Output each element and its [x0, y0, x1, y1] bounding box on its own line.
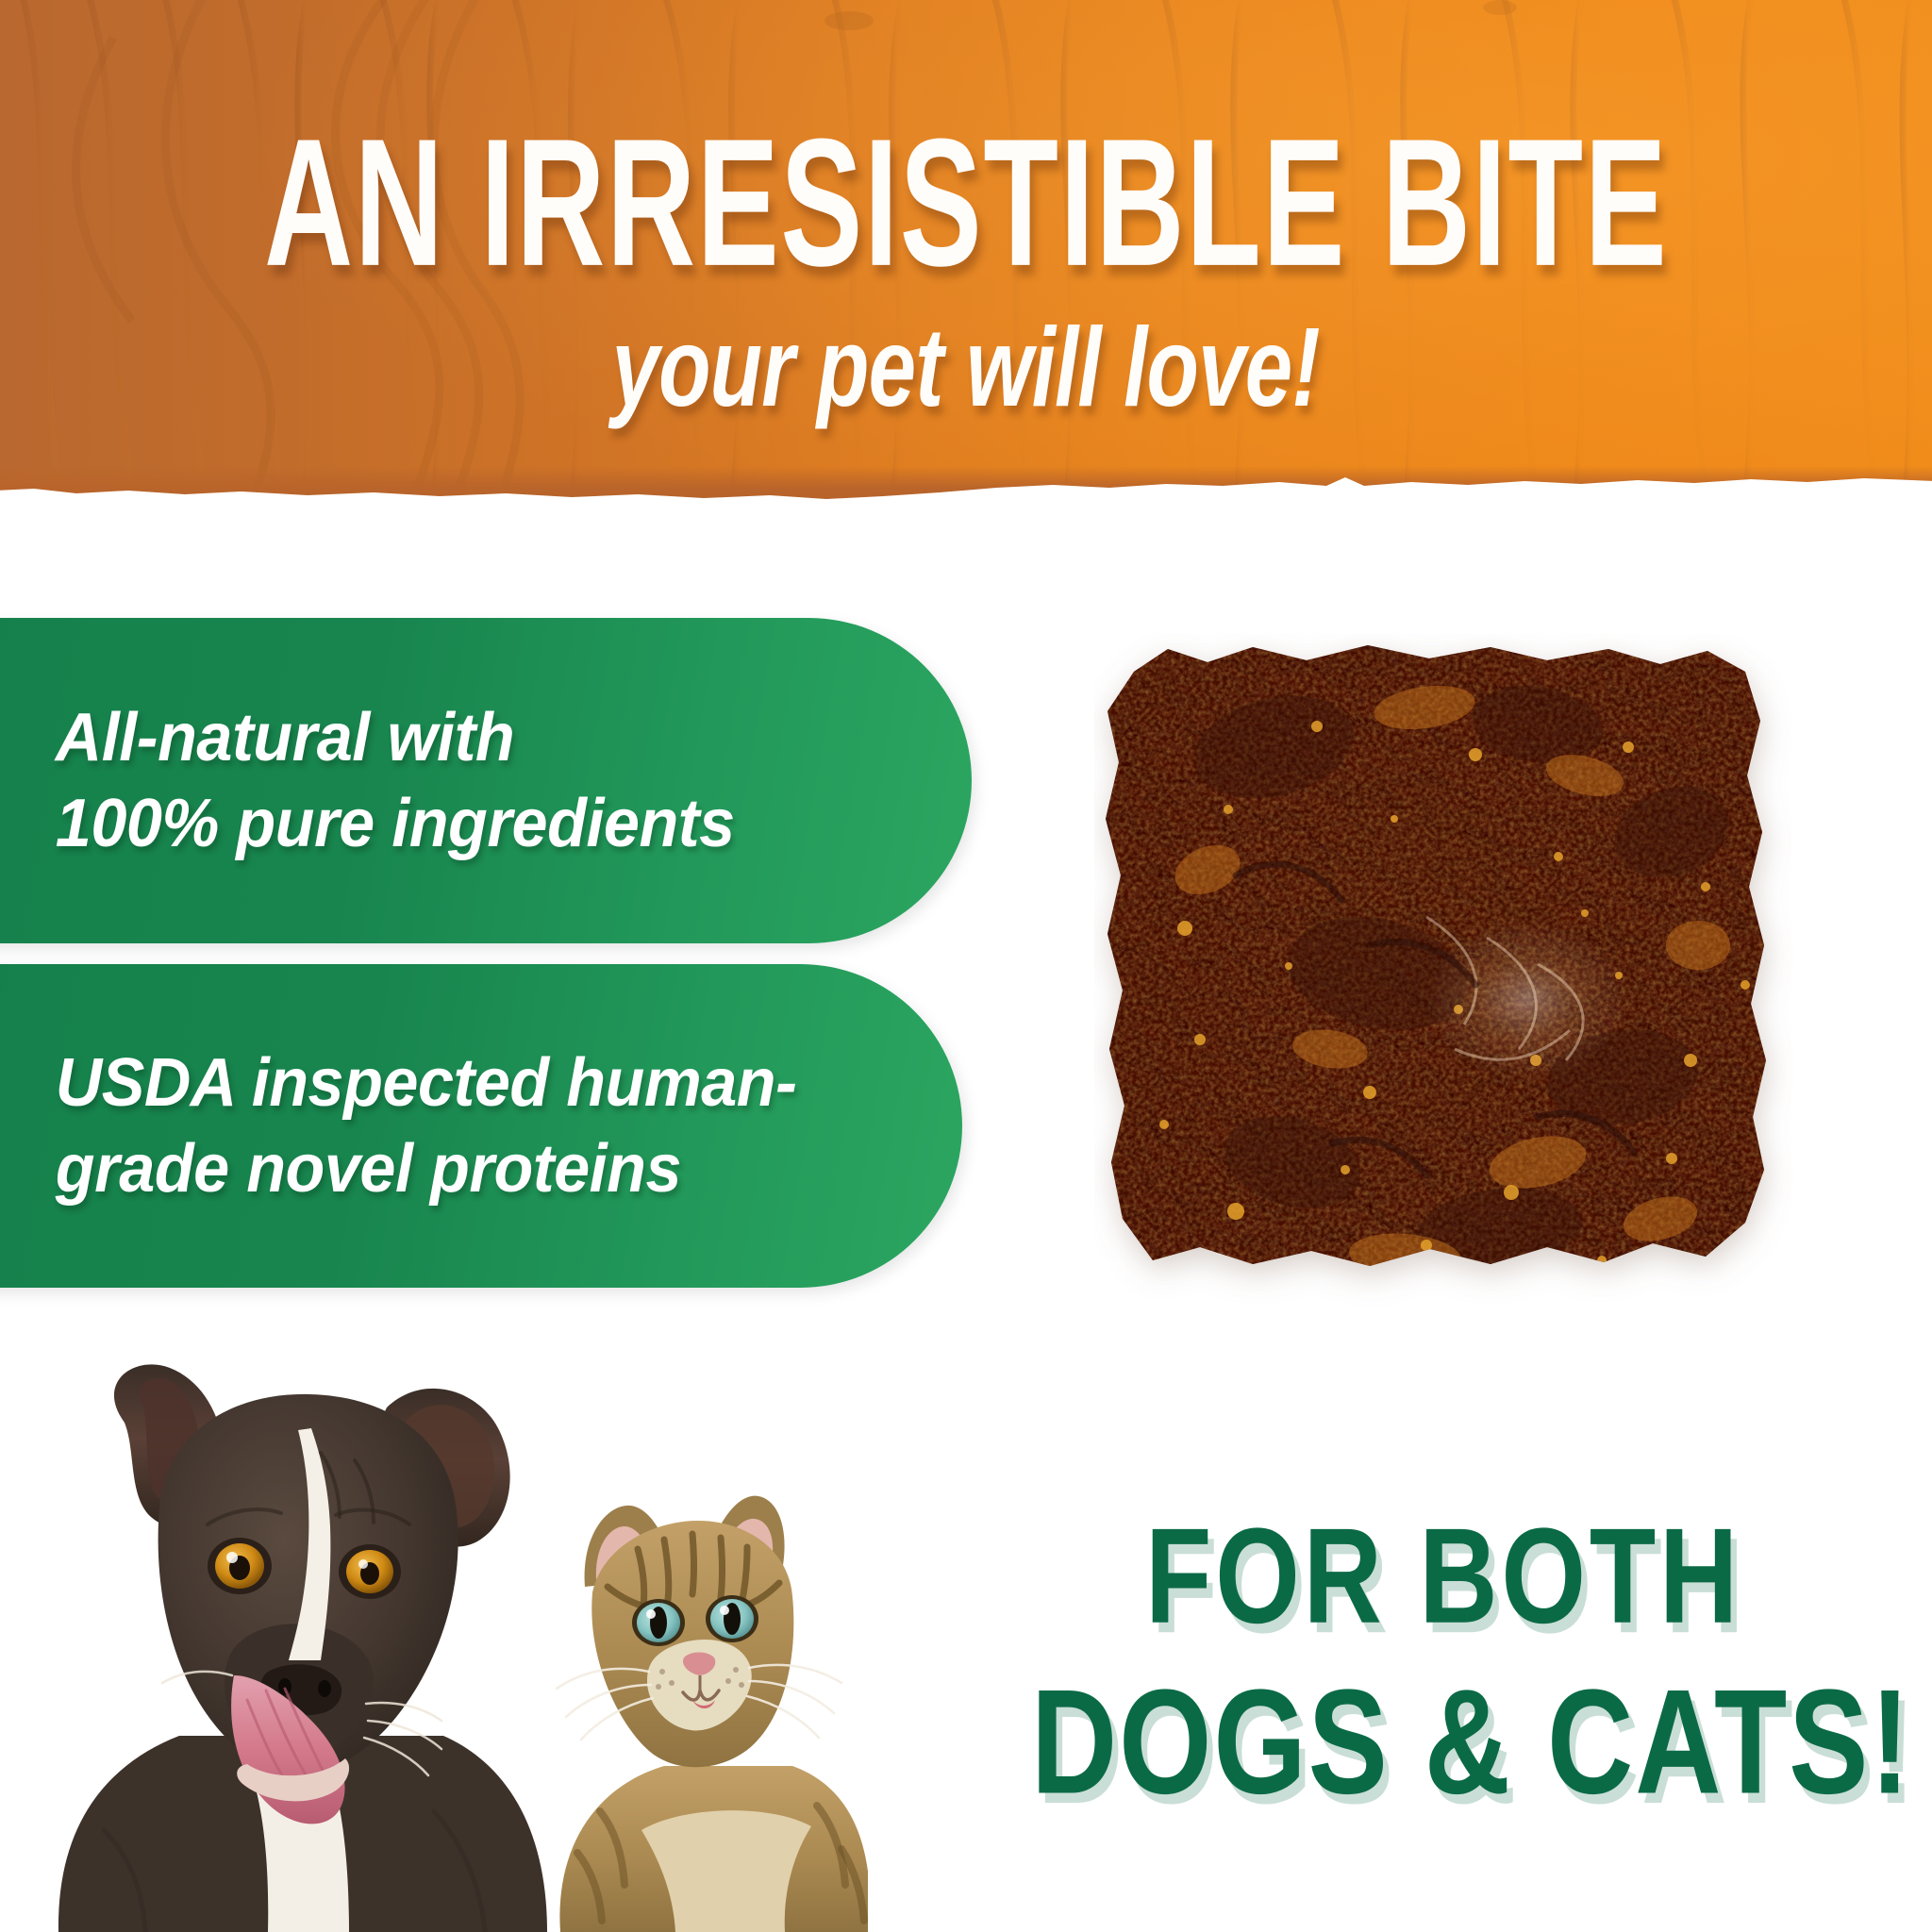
- dog-eye-right: [339, 1544, 401, 1599]
- torn-edge: [0, 441, 1932, 525]
- feature-pill-label: All-natural with 100% pure ingredients: [0, 695, 771, 866]
- promo-graphic: AN IRRESISTIBLE BITE your pet will love!…: [0, 0, 1932, 1932]
- cta-line-2: DOGS & CATS!: [1031, 1666, 1856, 1818]
- cat-eye-right: [706, 1595, 758, 1642]
- cta-headline: FOR BOTH DOGS & CATS!: [1000, 1507, 1887, 1797]
- cat-eye-left: [632, 1599, 685, 1646]
- product-treat-image: [1094, 634, 1792, 1327]
- banner-headline: AN IRRESISTIBLE BITE: [0, 111, 1932, 265]
- dog-and-cat-photo: [38, 1340, 868, 1932]
- feature-pill-usda-inspected: USDA inspected human- grade novel protei…: [0, 964, 962, 1288]
- banner-subline: your pet will love!: [0, 311, 1932, 413]
- dog-eye-left: [208, 1538, 272, 1594]
- feature-pill-label: USDA inspected human- grade novel protei…: [0, 1041, 832, 1211]
- headline-text: AN IRRESISTIBLE BITE: [264, 111, 1668, 292]
- header-banner: AN IRRESISTIBLE BITE your pet will love!: [0, 0, 1932, 525]
- feature-pill-all-natural: All-natural with 100% pure ingredients: [0, 618, 972, 943]
- cta-line-1: FOR BOTH: [1031, 1507, 1856, 1646]
- subline-text: your pet will love!: [612, 311, 1320, 424]
